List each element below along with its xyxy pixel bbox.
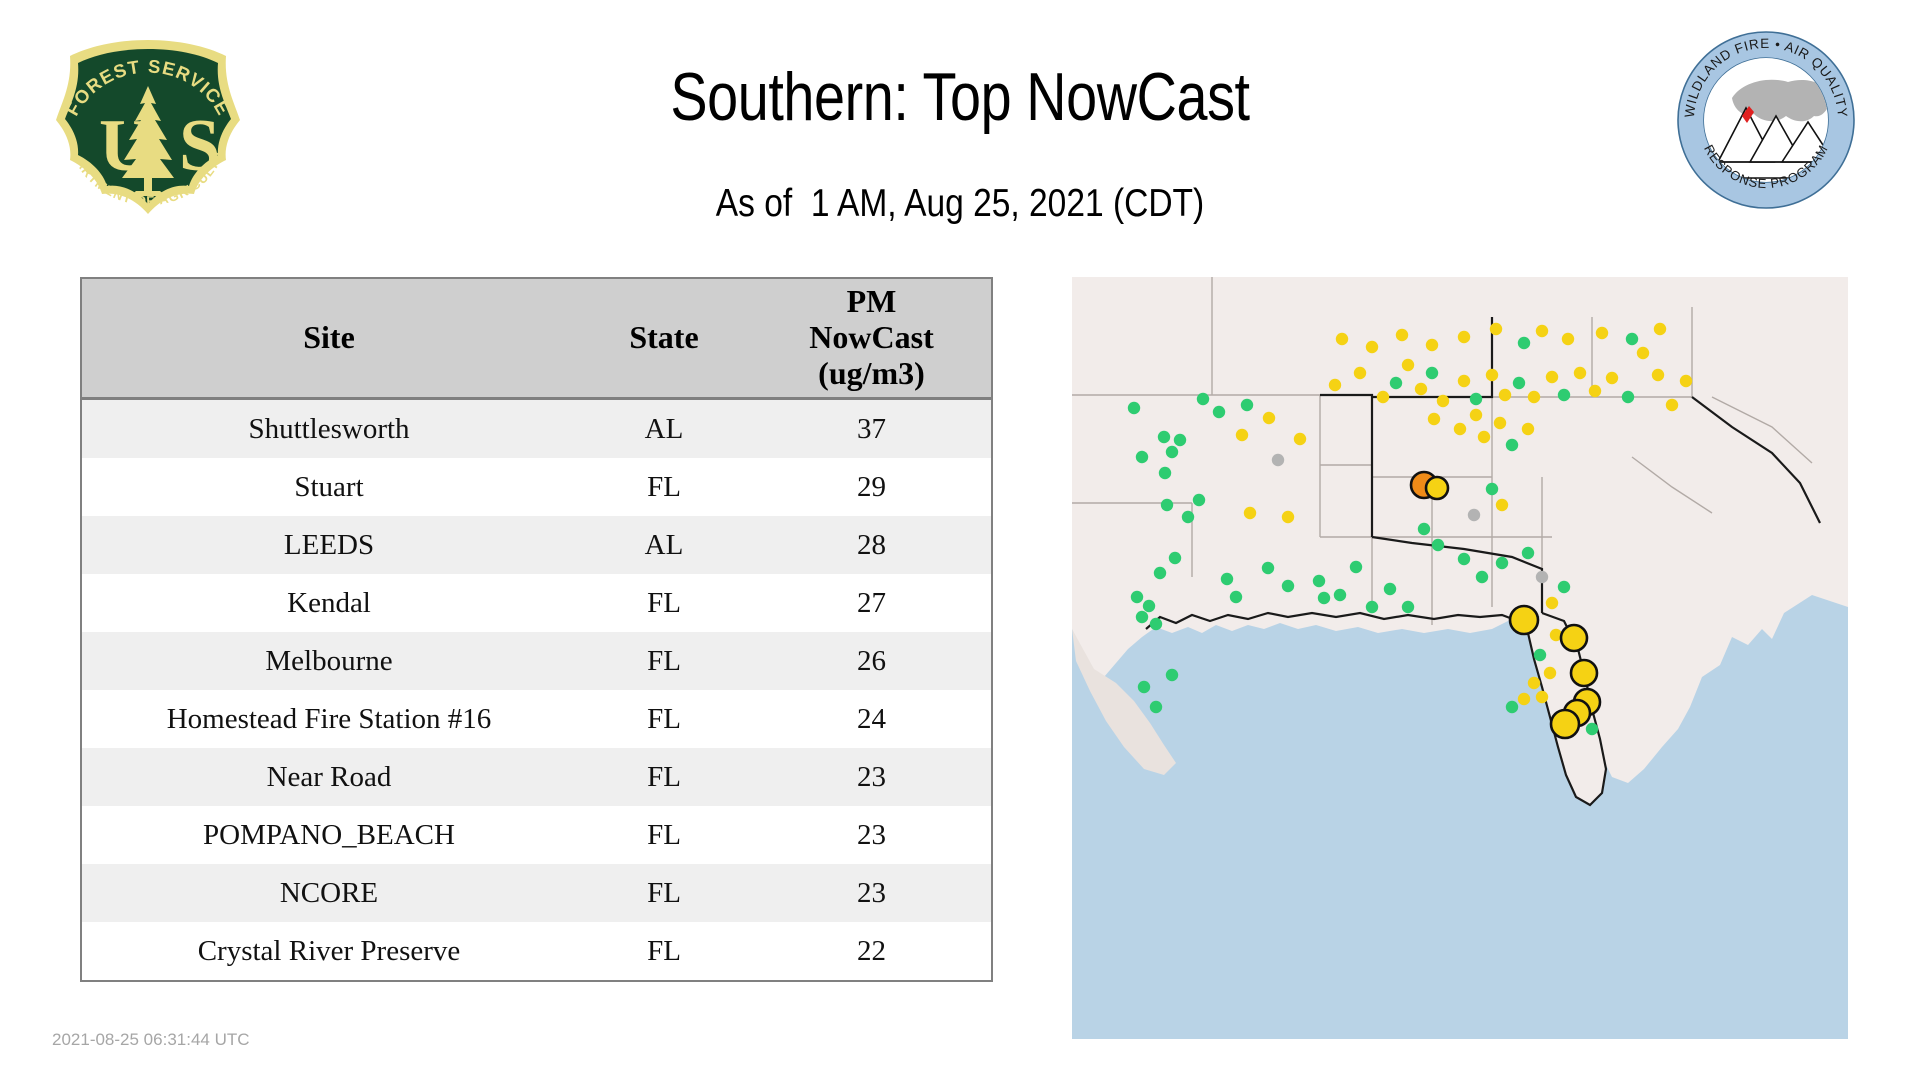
monitor-dot — [1159, 467, 1171, 479]
monitor-dot — [1244, 507, 1256, 519]
monitor-dot — [1546, 371, 1558, 383]
monitor-dot — [1558, 389, 1570, 401]
monitor-dot — [1418, 523, 1430, 535]
monitor-dot — [1221, 573, 1233, 585]
monitor-dot — [1136, 451, 1148, 463]
column-header-site[interactable]: Site — [81, 278, 576, 399]
monitor-dot — [1366, 601, 1378, 613]
monitor-dot — [1534, 649, 1546, 661]
monitor-dot — [1263, 412, 1275, 424]
table-row[interactable]: Near RoadFL23 — [81, 748, 992, 806]
monitor-dot — [1513, 377, 1525, 389]
table-row[interactable]: Crystal River PreserveFL22 — [81, 922, 992, 981]
pm-cell: 23 — [752, 864, 992, 922]
monitor-dot — [1158, 431, 1170, 443]
monitor-dot — [1197, 393, 1209, 405]
table-row[interactable]: Homestead Fire Station #16FL24 — [81, 690, 992, 748]
page-subtitle: As of 1 AM, Aug 25, 2021 (CDT) — [134, 182, 1785, 226]
monitor-dot — [1494, 417, 1506, 429]
monitor-dot — [1128, 402, 1140, 414]
monitor-dot — [1154, 567, 1166, 579]
air-quality-map[interactable]: Air Quality Index HazardousVery Unhealth… — [1072, 277, 1848, 1039]
monitor-dot — [1596, 327, 1608, 339]
monitor-dot — [1437, 395, 1449, 407]
monitor-dot — [1241, 399, 1253, 411]
monitor-dot — [1544, 667, 1556, 679]
monitor-dot — [1574, 367, 1586, 379]
monitor-dot — [1536, 571, 1548, 583]
monitor-dot — [1282, 511, 1294, 523]
monitor-dot — [1486, 369, 1498, 381]
nowcast-table: Site State PM NowCast (ug/m3) Shuttleswo… — [80, 277, 993, 982]
monitor-dot — [1428, 413, 1440, 425]
monitor-dot — [1377, 391, 1389, 403]
pm-cell: 29 — [752, 458, 992, 516]
monitor-dot — [1390, 377, 1402, 389]
monitor-dot — [1366, 341, 1378, 353]
footer-timestamp: 2021-08-25 06:31:44 UTC — [52, 1030, 250, 1050]
monitor-dot — [1458, 331, 1470, 343]
monitor-dot — [1454, 423, 1466, 435]
gulf-of-mexico — [1072, 747, 1848, 1039]
monitor-dot — [1166, 669, 1178, 681]
highlighted-site-marker[interactable] — [1426, 477, 1448, 499]
pm-cell: 37 — [752, 399, 992, 459]
state-cell: AL — [576, 516, 752, 574]
table-row[interactable]: ShuttlesworthAL37 — [81, 399, 992, 459]
monitor-dot — [1536, 691, 1548, 703]
monitor-dot — [1402, 601, 1414, 613]
table-header-row: Site State PM NowCast (ug/m3) — [81, 278, 992, 399]
column-header-state[interactable]: State — [576, 278, 752, 399]
monitor-dot — [1586, 723, 1598, 735]
monitor-dot — [1522, 423, 1534, 435]
site-cell: LEEDS — [81, 516, 576, 574]
monitor-dot — [1136, 611, 1148, 623]
site-cell: Near Road — [81, 748, 576, 806]
highlighted-site-marker[interactable] — [1571, 660, 1597, 686]
monitor-dot — [1536, 325, 1548, 337]
highlighted-site-marker[interactable] — [1551, 710, 1579, 738]
monitor-dot — [1486, 483, 1498, 495]
monitor-dot — [1496, 557, 1508, 569]
monitor-dot — [1262, 562, 1274, 574]
site-cell: Kendal — [81, 574, 576, 632]
site-cell: Stuart — [81, 458, 576, 516]
monitor-dot — [1426, 339, 1438, 351]
monitor-dot — [1329, 379, 1341, 391]
monitor-dot — [1496, 499, 1508, 511]
monitor-dot — [1138, 681, 1150, 693]
monitor-dot — [1174, 434, 1186, 446]
monitor-dot — [1680, 375, 1692, 387]
monitor-dot — [1169, 552, 1181, 564]
monitor-dot — [1318, 592, 1330, 604]
monitor-dot — [1518, 337, 1530, 349]
site-cell: Shuttlesworth — [81, 399, 576, 459]
state-cell: FL — [576, 806, 752, 864]
table-row[interactable]: NCOREFL23 — [81, 864, 992, 922]
pm-cell: 26 — [752, 632, 992, 690]
monitor-dot — [1562, 333, 1574, 345]
monitor-dot — [1606, 372, 1618, 384]
pm-header-line-1: PM — [847, 283, 897, 319]
monitor-dot — [1518, 693, 1530, 705]
monitor-dot — [1622, 391, 1634, 403]
monitor-dot — [1402, 359, 1414, 371]
highlighted-site-marker[interactable] — [1510, 606, 1538, 634]
table-row[interactable]: MelbourneFL26 — [81, 632, 992, 690]
highlighted-site-marker[interactable] — [1561, 625, 1587, 651]
monitor-dot — [1528, 677, 1540, 689]
state-cell: FL — [576, 632, 752, 690]
nowcast-table-container: Site State PM NowCast (ug/m3) Shuttleswo… — [80, 277, 993, 982]
monitor-dot — [1384, 583, 1396, 595]
site-cell: Melbourne — [81, 632, 576, 690]
monitor-dot — [1354, 367, 1366, 379]
monitor-dot — [1143, 600, 1155, 612]
state-cell: FL — [576, 574, 752, 632]
pm-cell: 22 — [752, 922, 992, 981]
site-cell: Crystal River Preserve — [81, 922, 576, 981]
state-cell: AL — [576, 399, 752, 459]
monitor-dot — [1282, 580, 1294, 592]
table-row[interactable]: KendalFL27 — [81, 574, 992, 632]
monitor-dot — [1468, 509, 1480, 521]
monitor-dot — [1415, 383, 1427, 395]
monitor-dot — [1131, 591, 1143, 603]
pm-cell: 27 — [752, 574, 992, 632]
monitor-dot — [1637, 347, 1649, 359]
page-title: Southern: Top NowCast — [173, 58, 1747, 136]
monitor-dot — [1230, 591, 1242, 603]
monitor-dot — [1313, 575, 1325, 587]
table-row[interactable]: StuartFL29 — [81, 458, 992, 516]
site-cell: Homestead Fire Station #16 — [81, 690, 576, 748]
site-cell: NCORE — [81, 864, 576, 922]
monitor-dot — [1506, 439, 1518, 451]
monitor-dot — [1272, 454, 1284, 466]
state-cell: FL — [576, 458, 752, 516]
monitor-dot — [1478, 431, 1490, 443]
monitor-dot — [1426, 367, 1438, 379]
monitor-dot — [1522, 547, 1534, 559]
state-cell: FL — [576, 922, 752, 981]
monitor-dot — [1458, 553, 1470, 565]
monitor-dot — [1458, 375, 1470, 387]
monitor-dot — [1528, 391, 1540, 403]
monitor-dot — [1294, 433, 1306, 445]
monitor-dot — [1470, 393, 1482, 405]
monitor-dot — [1558, 581, 1570, 593]
site-cell: POMPANO_BEACH — [81, 806, 576, 864]
monitor-dot — [1161, 499, 1173, 511]
monitor-dot — [1432, 539, 1444, 551]
monitor-dot — [1652, 369, 1664, 381]
monitor-dot — [1193, 494, 1205, 506]
pm-cell: 28 — [752, 516, 992, 574]
pm-cell: 24 — [752, 690, 992, 748]
pm-cell: 23 — [752, 806, 992, 864]
state-cell: FL — [576, 748, 752, 806]
monitor-dot — [1470, 409, 1482, 421]
monitor-dot — [1150, 701, 1162, 713]
map-canvas[interactable] — [1072, 277, 1848, 1039]
monitor-dot — [1213, 406, 1225, 418]
monitor-dot — [1396, 329, 1408, 341]
monitor-dot — [1166, 446, 1178, 458]
state-cell: FL — [576, 690, 752, 748]
monitor-dot — [1350, 561, 1362, 573]
pm-cell: 23 — [752, 748, 992, 806]
table-body: ShuttlesworthAL37StuartFL29LEEDSAL28Kend… — [81, 399, 992, 982]
state-cell: FL — [576, 864, 752, 922]
monitor-dot — [1506, 701, 1518, 713]
pm-header-line-3: (ug/m3) — [818, 355, 925, 391]
monitor-dot — [1336, 333, 1348, 345]
monitor-dot — [1476, 571, 1488, 583]
monitor-dot — [1334, 589, 1346, 601]
table-row[interactable]: POMPANO_BEACHFL23 — [81, 806, 992, 864]
monitor-dot — [1236, 429, 1248, 441]
column-header-pm-nowcast[interactable]: PM NowCast (ug/m3) — [752, 278, 992, 399]
monitor-dot — [1546, 597, 1558, 609]
monitor-dot — [1626, 333, 1638, 345]
monitor-dot — [1666, 399, 1678, 411]
monitor-dot — [1589, 385, 1601, 397]
table-row[interactable]: LEEDSAL28 — [81, 516, 992, 574]
table-header: Site State PM NowCast (ug/m3) — [81, 278, 992, 399]
pm-header-line-2: NowCast — [809, 319, 933, 355]
monitor-dot — [1150, 618, 1162, 630]
monitor-dot — [1654, 323, 1666, 335]
monitor-dot — [1182, 511, 1194, 523]
monitor-dot — [1499, 389, 1511, 401]
monitor-dot — [1490, 323, 1502, 335]
